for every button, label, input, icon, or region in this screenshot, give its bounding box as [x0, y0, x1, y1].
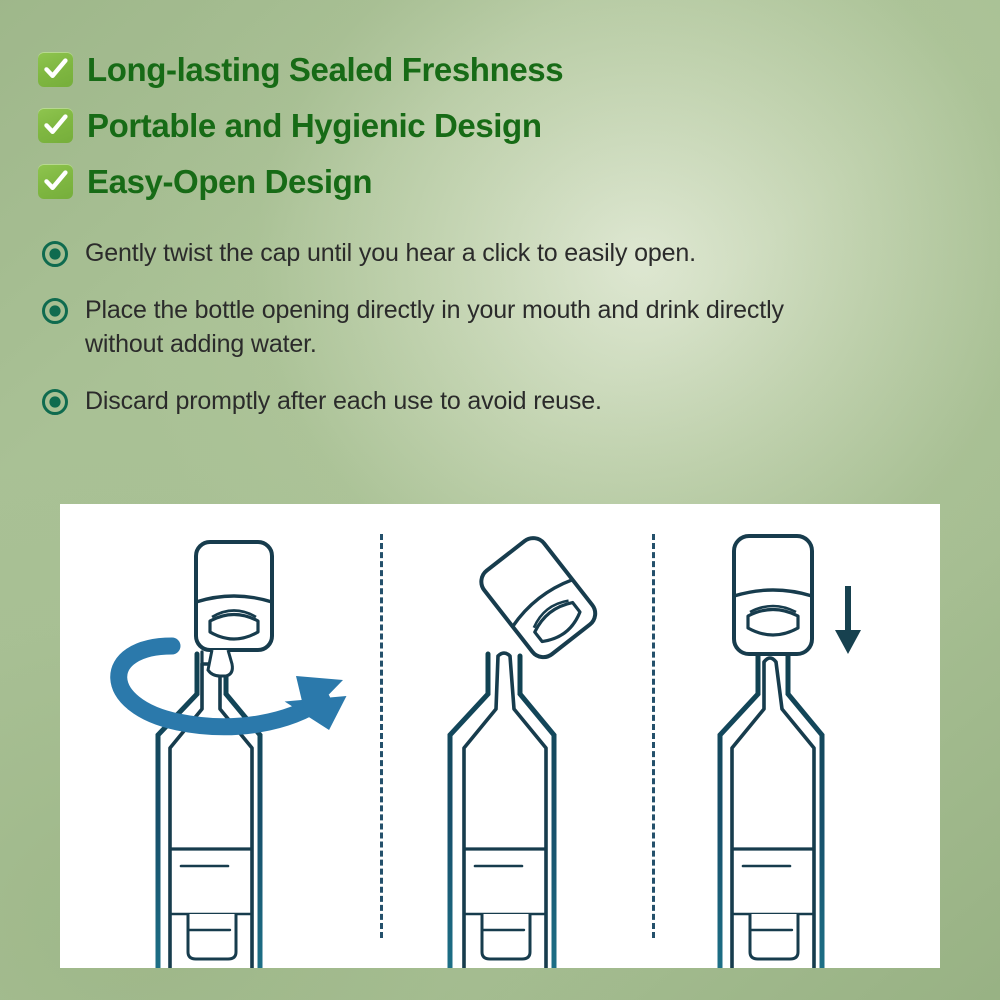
feature-list: Long-lasting Sealed Freshness Portable a…: [38, 41, 938, 209]
feature-item-sealed-freshness: Long-lasting Sealed Freshness: [38, 41, 938, 97]
check-box-icon: [38, 108, 73, 143]
check-box-icon: [38, 164, 73, 199]
instruction-item-text: Gently twist the cap until you hear a cl…: [85, 236, 696, 270]
feature-item-label: Portable and Hygienic Design: [87, 109, 542, 142]
twist-cap-step: [60, 504, 380, 968]
check-box-icon: [38, 52, 73, 87]
feature-item-portable-hygienic: Portable and Hygienic Design: [38, 97, 938, 153]
instruction-list: Gently twist the cap until you hear a cl…: [40, 236, 830, 441]
bullet-target-icon: [40, 296, 70, 326]
instruction-item-text: Discard promptly after each use to avoid…: [85, 384, 602, 418]
illustration-panel: [60, 504, 940, 968]
tilted-cap-icon: [476, 532, 601, 662]
instruction-item-twist-cap: Gently twist the cap until you hear a cl…: [40, 236, 830, 270]
product-feature-infographic: Long-lasting Sealed Freshness Portable a…: [0, 0, 1000, 1000]
instruction-item-place-bottle: Place the bottle opening directly in you…: [40, 293, 830, 361]
feature-item-label: Long-lasting Sealed Freshness: [87, 53, 563, 86]
bullet-target-icon: [40, 387, 70, 417]
instruction-item-discard: Discard promptly after each use to avoid…: [40, 384, 830, 418]
feature-item-label: Easy-Open Design: [87, 165, 372, 198]
feature-item-easy-open: Easy-Open Design: [38, 153, 938, 209]
press-cap-step: [652, 504, 940, 968]
down-arrow-icon: [835, 586, 861, 654]
instruction-item-text: Place the bottle opening directly in you…: [85, 293, 825, 361]
remove-cap-step: [380, 504, 652, 968]
bullet-target-icon: [40, 239, 70, 269]
